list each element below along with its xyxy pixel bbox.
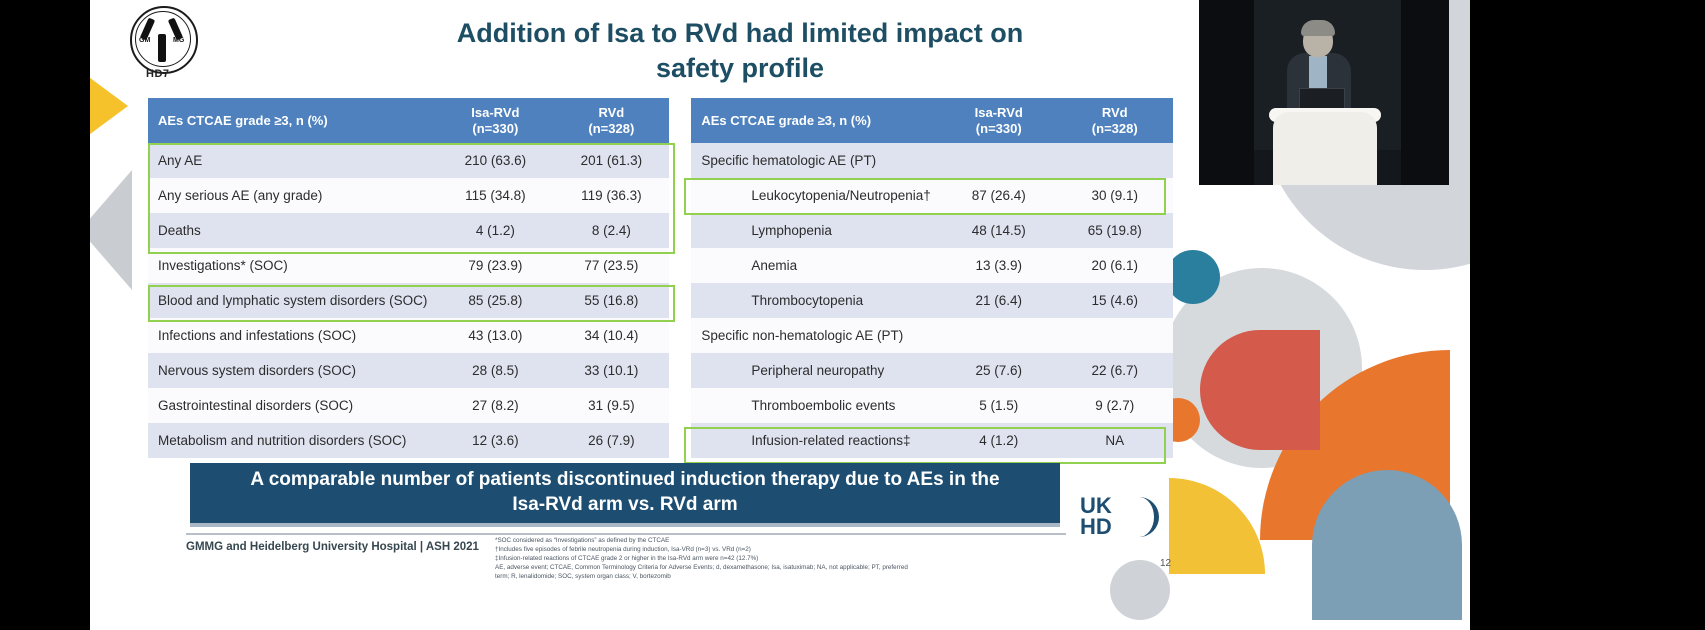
table-row: Thrombocytopenia21 (6.4)15 (4.6) — [691, 283, 1172, 318]
row-label: Peripheral neuropathy — [691, 353, 940, 388]
row-value-rvd: 30 (9.1) — [1057, 178, 1173, 213]
footnote-2: †Includes five episodes of febrile neutr… — [495, 546, 1095, 555]
right-header-rvd-n: (n=328) — [1067, 121, 1163, 137]
left-letterbox-bar — [0, 0, 90, 630]
antibody-stem-icon — [158, 34, 166, 62]
row-value-isa-rvd: 79 (23.9) — [437, 248, 553, 283]
row-value-isa-rvd — [941, 143, 1057, 178]
table-row: Anemia13 (3.9)20 (6.1) — [691, 248, 1172, 283]
row-value-isa-rvd: 5 (1.5) — [941, 388, 1057, 423]
right-header-isa-rvd-name: Isa-RVd — [951, 105, 1047, 121]
row-label: Investigations* (SOC) — [148, 248, 437, 283]
presenter-shirt — [1309, 56, 1327, 90]
video-right-curtain — [1401, 0, 1449, 185]
row-value-isa-rvd: 25 (7.6) — [941, 353, 1057, 388]
row-value-isa-rvd: 48 (14.5) — [941, 213, 1057, 248]
row-value-rvd: 8 (2.4) — [553, 213, 669, 248]
row-label: Any AE — [148, 143, 437, 178]
row-label: Thrombocytopenia — [691, 283, 940, 318]
podium-body — [1273, 112, 1377, 185]
footnote-5: term; R, lenalidomide; SOC, system organ… — [495, 573, 1095, 582]
row-value-isa-rvd: 85 (25.8) — [437, 283, 553, 318]
table-row: Gastrointestinal disorders (SOC)27 (8.2)… — [148, 388, 669, 423]
row-label: Infections and infestations (SOC) — [148, 318, 437, 353]
table-row: Deaths4 (1.2)8 (2.4) — [148, 213, 669, 248]
blue-quarter-circle — [1312, 470, 1462, 620]
row-label: Gastrointestinal disorders (SOC) — [148, 388, 437, 423]
row-label: Any serious AE (any grade) — [148, 178, 437, 213]
left-header-rvd: RVd (n=328) — [553, 98, 669, 143]
row-value-isa-rvd: 13 (3.9) — [941, 248, 1057, 283]
right-header-isa-rvd-n: (n=330) — [951, 121, 1047, 137]
row-value-rvd: 201 (61.3) — [553, 143, 669, 178]
tables-container: AEs CTCAE grade ≥3, n (%) Isa-RVd (n=330… — [148, 98, 1173, 458]
row-value-isa-rvd: 210 (63.6) — [437, 143, 553, 178]
row-label: Blood and lymphatic system disorders (SO… — [148, 283, 437, 318]
presenter-video-tile[interactable] — [1199, 0, 1449, 185]
left-header-rvd-n: (n=328) — [563, 121, 659, 137]
table-row: Peripheral neuropathy25 (7.6)22 (6.7) — [691, 353, 1172, 388]
row-value-rvd: 119 (36.3) — [553, 178, 669, 213]
left-header-rvd-name: RVd — [563, 105, 659, 121]
row-value-rvd: 34 (10.4) — [553, 318, 669, 353]
video-left-curtain — [1199, 0, 1254, 185]
page-number: 12 — [1160, 558, 1171, 569]
presenter-hair — [1301, 20, 1335, 36]
row-value-isa-rvd — [941, 318, 1057, 353]
table-gap-spacer — [679, 98, 681, 458]
row-value-isa-rvd: 28 (8.5) — [437, 353, 553, 388]
row-value-isa-rvd: 4 (1.2) — [941, 423, 1057, 458]
row-value-rvd: 33 (10.1) — [553, 353, 669, 388]
summary-banner: A comparable number of patients disconti… — [190, 463, 1060, 527]
gray-circle-small — [1110, 560, 1170, 620]
row-label: Specific hematologic AE (PT) — [691, 143, 940, 178]
right-ae-table: AEs CTCAE grade ≥3, n (%) Isa-RVd (n=330… — [691, 98, 1172, 458]
row-value-isa-rvd: 4 (1.2) — [437, 213, 553, 248]
left-header-isa-rvd-name: Isa-RVd — [447, 105, 543, 121]
table-row: Investigations* (SOC)79 (23.9)77 (23.5) — [148, 248, 669, 283]
ukhd-swoosh-icon — [1132, 497, 1159, 537]
footnote-3: ‡Infusion-related reactions of CTCAE gra… — [495, 555, 1095, 564]
screen: GM MG HD7 Addition of Isa to RVd had lim… — [0, 0, 1705, 630]
banner-line1: A comparable number of patients disconti… — [250, 468, 999, 493]
red-quarter-circle — [1200, 330, 1320, 450]
row-value-isa-rvd: 115 (34.8) — [437, 178, 553, 213]
table-row: Infusion-related reactions‡4 (1.2)NA — [691, 423, 1172, 458]
footer-divider — [186, 533, 1066, 535]
row-label: Leukocytopenia/Neutropenia† — [691, 178, 940, 213]
slide-title: Addition of Isa to RVd had limited impac… — [260, 16, 1220, 85]
table-header-row: AEs CTCAE grade ≥3, n (%) Isa-RVd (n=330… — [148, 98, 669, 143]
ukhd-logo: UK HD — [1080, 495, 1112, 537]
logo-text-gm: GM — [139, 37, 150, 44]
row-value-rvd — [1057, 143, 1173, 178]
table-row: Blood and lymphatic system disorders (SO… — [148, 283, 669, 318]
row-value-rvd: 9 (2.7) — [1057, 388, 1173, 423]
row-value-rvd: 77 (23.5) — [553, 248, 669, 283]
row-value-rvd: 26 (7.9) — [553, 423, 669, 458]
table-row: Leukocytopenia/Neutropenia†87 (26.4)30 (… — [691, 178, 1172, 213]
orange-quarter-circle — [1260, 350, 1450, 540]
logo-text-mg: MG — [173, 37, 184, 44]
left-header-isa-rvd-n: (n=330) — [447, 121, 543, 137]
right-letterbox-bar — [1470, 0, 1705, 630]
row-value-isa-rvd: 87 (26.4) — [941, 178, 1057, 213]
footnote-4: AE, adverse event; CTCAE, Common Termino… — [495, 564, 1095, 573]
table-row: Specific hematologic AE (PT) — [691, 143, 1172, 178]
row-label: Specific non-hematologic AE (PT) — [691, 318, 940, 353]
row-label: Metabolism and nutrition disorders (SOC) — [148, 423, 437, 458]
banner-line2: Isa-RVd arm vs. RVd arm — [512, 493, 737, 518]
row-value-rvd: 20 (6.1) — [1057, 248, 1173, 283]
row-value-isa-rvd: 21 (6.4) — [941, 283, 1057, 318]
row-value-rvd: NA — [1057, 423, 1173, 458]
row-label: Nervous system disorders (SOC) — [148, 353, 437, 388]
row-label: Lymphopenia — [691, 213, 940, 248]
row-value-rvd: 22 (6.7) — [1057, 353, 1173, 388]
footer-credit: GMMG and Heidelberg University Hospital … — [186, 541, 479, 553]
right-header-isa-rvd: Isa-RVd (n=330) — [941, 98, 1057, 143]
slide-title-line1: Addition of Isa to RVd had limited impac… — [260, 16, 1220, 51]
footnotes: *SOC considered as “Investigations” as d… — [495, 537, 1095, 582]
row-value-rvd: 31 (9.5) — [553, 388, 669, 423]
ukhd-logo-line1: UK — [1080, 495, 1112, 516]
row-label: Thromboembolic events — [691, 388, 940, 423]
right-header-rvd: RVd (n=328) — [1057, 98, 1173, 143]
footnote-1: *SOC considered as “Investigations” as d… — [495, 537, 1095, 546]
left-table-body: Any AE210 (63.6)201 (61.3)Any serious AE… — [148, 143, 669, 458]
table-row: Any AE210 (63.6)201 (61.3) — [148, 143, 669, 178]
right-header-label: AEs CTCAE grade ≥3, n (%) — [691, 98, 940, 143]
gray-wedge-shape — [90, 170, 132, 290]
table-header-row: AEs CTCAE grade ≥3, n (%) Isa-RVd (n=330… — [691, 98, 1172, 143]
row-value-rvd — [1057, 318, 1173, 353]
row-value-rvd: 65 (19.8) — [1057, 213, 1173, 248]
row-value-rvd: 15 (4.6) — [1057, 283, 1173, 318]
row-label: Infusion-related reactions‡ — [691, 423, 940, 458]
right-table-body: Specific hematologic AE (PT)Leukocytopen… — [691, 143, 1172, 458]
yellow-triangle-shape — [90, 72, 128, 140]
table-row: Metabolism and nutrition disorders (SOC)… — [148, 423, 669, 458]
logo-study-label: HD7 — [146, 68, 170, 80]
row-value-isa-rvd: 12 (3.6) — [437, 423, 553, 458]
yellow-quarter-circle — [1169, 478, 1265, 574]
table-row: Infections and infestations (SOC)43 (13.… — [148, 318, 669, 353]
slide-title-line2: safety profile — [260, 51, 1220, 86]
teal-dot-shape — [1166, 250, 1220, 304]
row-value-isa-rvd: 27 (8.2) — [437, 388, 553, 423]
left-header-label: AEs CTCAE grade ≥3, n (%) — [148, 98, 437, 143]
table-row: Specific non-hematologic AE (PT) — [691, 318, 1172, 353]
right-header-rvd-name: RVd — [1067, 105, 1163, 121]
gmmg-logo: GM MG HD7 — [130, 6, 200, 76]
gray-circle-medium — [1162, 268, 1362, 468]
left-header-isa-rvd: Isa-RVd (n=330) — [437, 98, 553, 143]
ukhd-logo-line2: HD — [1080, 516, 1112, 537]
row-value-rvd: 55 (16.8) — [553, 283, 669, 318]
table-row: Thromboembolic events5 (1.5)9 (2.7) — [691, 388, 1172, 423]
row-label: Anemia — [691, 248, 940, 283]
left-ae-table: AEs CTCAE grade ≥3, n (%) Isa-RVd (n=330… — [148, 98, 669, 458]
table-row: Lymphopenia48 (14.5)65 (19.8) — [691, 213, 1172, 248]
table-row: Any serious AE (any grade)115 (34.8)119 … — [148, 178, 669, 213]
row-label: Deaths — [148, 213, 437, 248]
row-value-isa-rvd: 43 (13.0) — [437, 318, 553, 353]
table-row: Nervous system disorders (SOC)28 (8.5)33… — [148, 353, 669, 388]
